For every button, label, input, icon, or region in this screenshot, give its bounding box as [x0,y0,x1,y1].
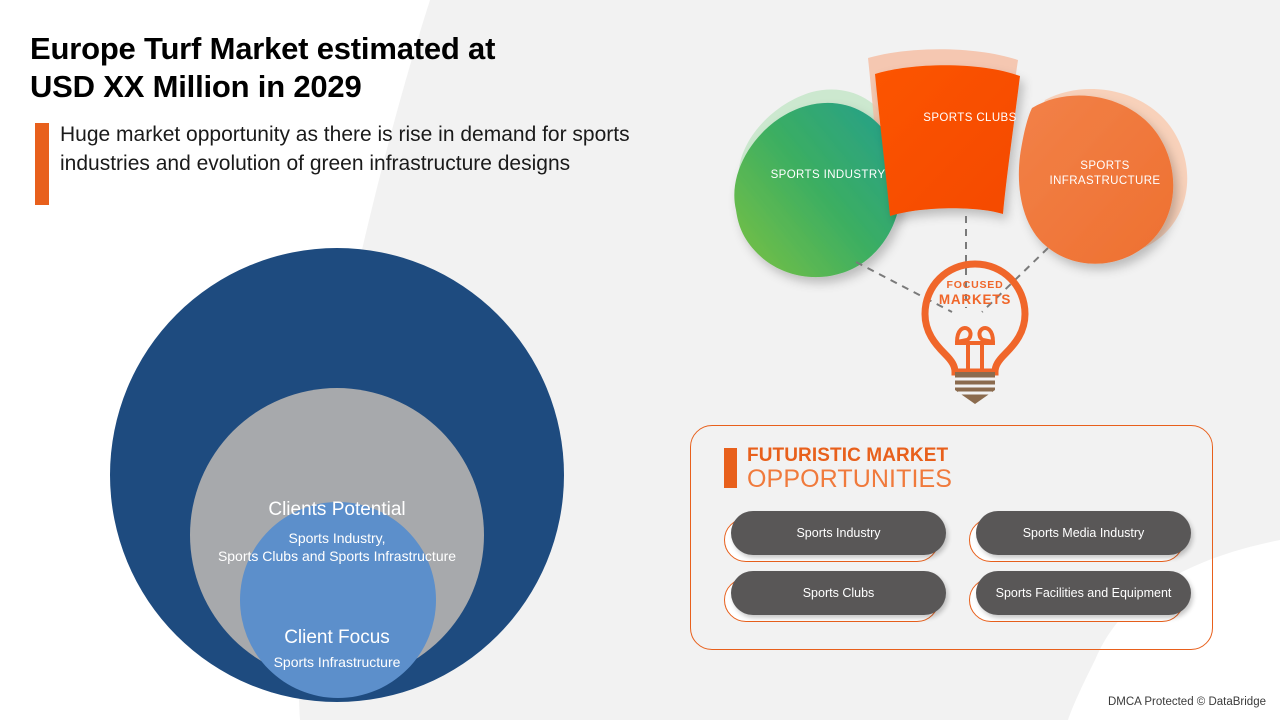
petal-label-sports-infrastructure: SPORTS INFRASTRUCTURE [1030,159,1180,188]
client-focus-detail: Sports Infrastructure [200,653,474,671]
concentric-circles-diagram: Clients Potential Sports Industry, Sport… [0,230,620,720]
bulb-label-line-1: FOCUSED [905,280,1045,292]
opportunity-pill-sports-clubs[interactable]: Sports Clubs [731,571,946,615]
petal-label-infra-line-1: SPORTS [1080,160,1129,172]
subtitle-accent-bar [35,123,49,205]
opportunity-pill-sports-facilities-and-equipment[interactable]: Sports Facilities and Equipment [976,571,1191,615]
bulb-label: FOCUSED MARKETS [905,280,1045,307]
bulb-label-line-2: MARKETS [905,292,1045,308]
label-client-focus: Client Focus Sports Infrastructure [200,626,474,671]
clients-potential-detail-2: Sports Clubs and Sports Infrastructure [218,548,456,564]
page-title: Europe Turf Market estimated at USD XX M… [30,30,670,106]
bulb-filament [955,328,995,370]
bulb-base [955,372,995,404]
opportunity-pill-row: Sports Clubs Sports Facilities and Equip… [724,571,1184,619]
footer-attribution: DMCA Protected © DataBridge [1108,696,1266,708]
opportunities-accent-bar [724,448,737,488]
opportunity-cell: Sports Clubs [724,571,939,619]
opportunity-cell: Sports Media Industry [969,511,1184,559]
opportunities-title-line-2: OPPORTUNITIES [747,466,952,493]
opportunities-header: FUTURISTIC MARKET OPPORTUNITIES [724,446,952,493]
clients-potential-detail-1: Sports Industry, [288,530,385,546]
opportunities-title-line-1: FUTURISTIC MARKET [747,446,952,465]
page-title-line-1: Europe Turf Market estimated at [30,31,495,66]
opportunity-pill-sports-media-industry[interactable]: Sports Media Industry [976,511,1191,555]
petal-label-sports-clubs: SPORTS CLUBS [890,111,1050,126]
headline-block: Europe Turf Market estimated at USD XX M… [30,30,670,179]
infographic-canvas: Europe Turf Market estimated at USD XX M… [0,0,1280,720]
opportunity-cell: Sports Facilities and Equipment [969,571,1184,619]
label-clients-potential: Clients Potential Sports Industry, Sport… [120,498,554,566]
page-title-line-2: USD XX Million in 2029 [30,69,362,104]
clients-potential-detail: Sports Industry, Sports Clubs and Sports… [120,529,554,566]
petal-label-sports-industry: SPORTS INDUSTRY [748,168,908,183]
opportunity-pill-grid: Sports Industry Sports Media Industry Sp… [724,511,1184,631]
futuristic-opportunities-panel: FUTURISTIC MARKET OPPORTUNITIES Sports I… [690,425,1213,650]
opportunity-pill-row: Sports Industry Sports Media Industry [724,511,1184,559]
subtitle-text: Huge market opportunity as there is rise… [60,120,670,180]
opportunity-cell: Sports Industry [724,511,939,559]
subtitle-block: Huge market opportunity as there is rise… [30,120,670,180]
petal-label-infra-line-2: INFRASTRUCTURE [1049,175,1160,187]
petal-sports-clubs[interactable] [875,65,1020,216]
clients-potential-title: Clients Potential [120,498,554,522]
client-focus-title: Client Focus [200,626,474,650]
opportunity-pill-sports-industry[interactable]: Sports Industry [731,511,946,555]
